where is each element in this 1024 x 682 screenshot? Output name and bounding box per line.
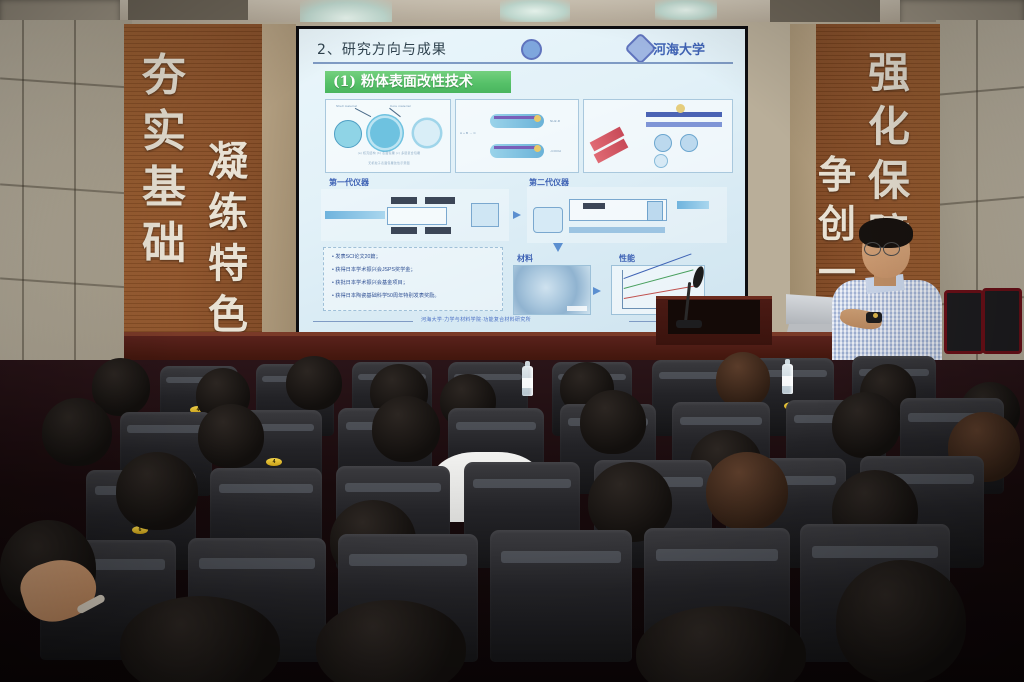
molecule-dot — [676, 104, 685, 113]
sem-micrograph — [513, 265, 591, 315]
detector — [471, 203, 499, 227]
center-emblem-icon — [521, 39, 542, 60]
core-material-label: Core material — [390, 105, 411, 109]
seat — [490, 530, 632, 662]
slide-footer: 河海大学·力学与材料学院·功能复合材料研究所 — [421, 316, 531, 323]
ceiling-light — [655, 0, 717, 20]
audience-head — [42, 398, 112, 466]
vessel — [647, 201, 663, 221]
eyeglasses-icon — [864, 242, 881, 256]
banner-left-column-2: 凝 练 特 色 — [208, 142, 268, 335]
banner-char: 础 — [142, 222, 206, 266]
particle-shell — [414, 120, 440, 146]
university-seal-icon — [624, 32, 657, 65]
chamber — [387, 207, 447, 225]
remote-button — [873, 313, 878, 318]
banner-char: 化 — [868, 106, 930, 148]
banner-char: 凝 — [208, 142, 268, 182]
ceiling-light — [500, 0, 570, 22]
audience-head — [372, 396, 440, 462]
banner-char: 夯 — [142, 54, 206, 98]
eyeglasses-icon — [883, 242, 900, 256]
left-wall-panels — [0, 20, 132, 372]
banner-char: 强 — [868, 52, 930, 94]
slide-section-title: 2、研究方向与成果 — [317, 39, 447, 59]
seat-number: 4 — [266, 458, 282, 466]
university-wordmark: 河海大学 — [653, 39, 705, 58]
back-chair — [982, 288, 1022, 354]
leader-line — [389, 108, 401, 117]
audience-head — [580, 390, 646, 454]
ceiling-panel — [770, 0, 880, 22]
banner-left-column-1: 夯 实 基 础 — [142, 54, 206, 266]
reactor — [533, 207, 563, 233]
scale-bar — [567, 306, 587, 311]
banner-char: 争 — [818, 156, 874, 194]
back-chair — [944, 290, 984, 354]
banner-char: 特 — [208, 244, 268, 284]
water-bottle — [522, 366, 533, 396]
particle-coated — [370, 118, 400, 148]
vesicle — [680, 134, 698, 152]
module — [391, 227, 417, 234]
achievements-list: • 发表SCI论文20篇； • 获得日本学术振兴会JSPS奖学金； • 获批日本… — [323, 247, 503, 311]
first-generation-label: 第一代仪器 — [329, 177, 369, 188]
equipment-schematic-gen2 — [527, 187, 727, 243]
audience-head — [716, 352, 770, 408]
vesicle — [654, 154, 668, 168]
chart-series-line — [624, 269, 694, 289]
ceiling-panel — [128, 0, 248, 20]
audience-head — [116, 452, 198, 530]
process-arrow-icon — [513, 211, 521, 219]
flow-arrow-icon — [553, 243, 563, 252]
banner-char: 实 — [142, 110, 206, 154]
module — [391, 197, 417, 204]
list-item: • 获得日本陶瓷基础科学50周年特别发表奖励。 — [332, 293, 440, 301]
audience-head — [836, 560, 966, 682]
list-item: • 获批日本学术振兴会基金项目； — [332, 280, 408, 288]
equipment-schematic-gen1 — [321, 189, 509, 241]
base-rail — [569, 227, 665, 233]
list-item: • 获得日本学术振兴会JSPS奖学金； — [332, 267, 416, 275]
projected-slide: 2、研究方向与成果 河海大学 (1) 粉体表面改性技术 Shell materi… — [299, 29, 745, 337]
particle-sphere — [334, 120, 362, 148]
bullet-text: 获得日本学术振兴会JSPS奖学金； — [335, 267, 415, 273]
bullet-text: 获批日本学术振兴会基金项目； — [335, 280, 408, 286]
diagram-panel-application — [583, 99, 733, 173]
microphone-base — [676, 320, 702, 328]
layer-bar — [646, 112, 722, 117]
vesicle — [654, 134, 672, 152]
molecule-dot — [534, 145, 541, 152]
audience-head — [832, 392, 900, 458]
leader-line — [355, 108, 371, 117]
material-label: 材料 — [517, 253, 533, 264]
chart-y-axis — [622, 270, 623, 308]
diagram-panel-encapsulation: Shell material Core material (a) 核壳结构 (b… — [325, 99, 451, 173]
audience-head — [198, 404, 264, 468]
audience-head — [286, 356, 342, 410]
banner-char: 保 — [868, 160, 930, 202]
eyeglasses-bridge — [879, 247, 883, 248]
module — [425, 227, 451, 234]
projection-screen-frame: 2、研究方向与成果 河海大学 (1) 粉体表面改性技术 Shell materi… — [296, 26, 748, 340]
molecule-dot — [534, 115, 541, 122]
podium-monitor — [668, 300, 760, 334]
module — [425, 197, 455, 204]
header-rule — [313, 62, 733, 64]
banner-char: 练 — [208, 193, 268, 233]
lecture-hall-photo: 夯 实 基 础 凝 练 特 色 强 化 保 障 争 创 一 流 — [0, 0, 1024, 682]
audience-head — [706, 452, 788, 530]
diagram-panel-grafting: A + B → C NH2-R -COOH — [455, 99, 579, 173]
tube — [677, 201, 709, 209]
wall-trim-left — [262, 24, 296, 372]
module — [583, 203, 605, 209]
bullet-text: 发表SCI论文20篇； — [335, 254, 381, 260]
flow-arrow-icon — [593, 287, 601, 295]
performance-label: 性能 — [619, 253, 635, 264]
footer-rule-left — [313, 321, 413, 322]
tube — [325, 211, 385, 219]
diagram-caption: 无机粒子表面包覆改性示意图 — [334, 162, 444, 166]
list-item: • 发表SCI论文20篇； — [332, 254, 381, 262]
layer-bar — [646, 122, 722, 127]
banner-char: 色 — [208, 295, 268, 335]
left-wall-banner: 夯 实 基 础 凝 练 特 色 — [124, 24, 276, 372]
bullet-text: 获得日本陶瓷基础科学50周年特别发表奖励。 — [335, 293, 439, 299]
water-bottle — [782, 364, 793, 394]
banner-char: 基 — [142, 166, 206, 210]
slide-subsection-title: (1) 粉体表面改性技术 — [325, 71, 511, 93]
